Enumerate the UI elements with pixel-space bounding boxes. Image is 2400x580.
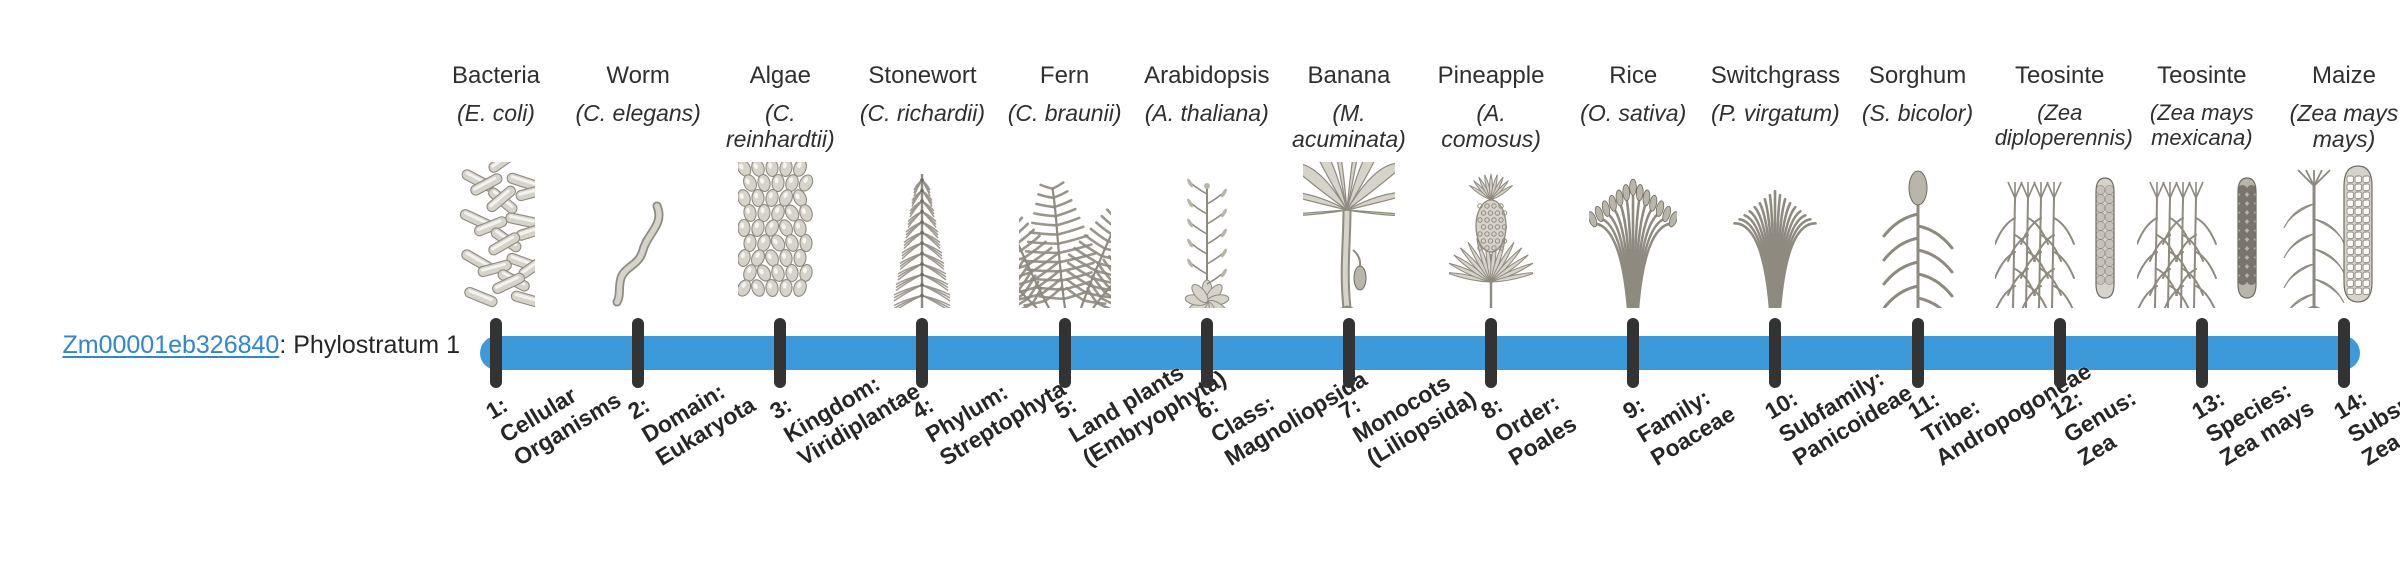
species-latin-name: (Zea mays mexicana) bbox=[2135, 100, 2269, 151]
species-latin-name: (C. reinhardtii) bbox=[713, 100, 847, 153]
phylostratum-tick-14[interactable] bbox=[2338, 318, 2350, 388]
phylostratum-tick-4[interactable] bbox=[916, 318, 928, 388]
sorghum-illustration bbox=[1851, 160, 1985, 308]
phylostratum-tick-5[interactable] bbox=[1059, 318, 1071, 388]
fern-illustration bbox=[998, 160, 1132, 308]
species-latin-name: (Zea diploperennis) bbox=[1993, 100, 2127, 151]
species-latin-name: (M. acuminata) bbox=[1282, 100, 1416, 153]
gene-label-separator: : bbox=[279, 331, 293, 359]
phylostratum-tick-13[interactable] bbox=[2196, 318, 2208, 388]
species-column-9: Rice(O. sativa)9:Family:Poaceae bbox=[1566, 0, 1700, 580]
gene-id-link[interactable]: Zm00001eb326840 bbox=[62, 331, 279, 359]
species-common-name: Pineapple bbox=[1424, 62, 1558, 90]
species-column-3: Algae(C. reinhardtii)3:Kingdom:Viridipla… bbox=[713, 0, 847, 580]
species-common-name: Fern bbox=[998, 62, 1132, 90]
species-column-11: Sorghum(S. bicolor)11:Tribe:Andropogonea… bbox=[1851, 0, 1985, 580]
species-common-name: Sorghum bbox=[1851, 62, 1985, 90]
phylostratum-tick-10[interactable] bbox=[1769, 318, 1781, 388]
species-column-8: Pineapple(A. comosus)8:Order:Poales bbox=[1424, 0, 1558, 580]
species-column-1: Bacteria(E. coli)1:CellularOrganisms bbox=[429, 0, 563, 580]
phylostratum-tick-2[interactable] bbox=[632, 318, 644, 388]
bacteria-illustration bbox=[429, 160, 563, 308]
species-common-name: Stonewort bbox=[855, 62, 989, 90]
nematode-worm-illustration bbox=[571, 160, 705, 308]
teosinte-mexicana-illustration bbox=[2135, 160, 2269, 308]
stonewort-illustration bbox=[855, 160, 989, 308]
species-common-name: Switchgrass bbox=[1708, 62, 1842, 90]
species-latin-name: (P. virgatum) bbox=[1708, 100, 1842, 126]
species-common-name: Rice bbox=[1566, 62, 1700, 90]
species-latin-name: (E. coli) bbox=[429, 100, 563, 126]
pineapple-plant-illustration bbox=[1424, 160, 1558, 308]
maize-illustration bbox=[2277, 160, 2400, 308]
phylostratum-tick-8[interactable] bbox=[1485, 318, 1497, 388]
species-column-4: Stonewort(C. richardii)4:Phylum:Streptop… bbox=[855, 0, 989, 580]
species-column-7: Banana(M. acuminata)7:Monocots(Liliopsid… bbox=[1282, 0, 1416, 580]
species-latin-name: (Zea mays mays) bbox=[2277, 100, 2400, 153]
species-column-5: Fern(C. braunii)5:Land plants(Embryophyt… bbox=[998, 0, 1132, 580]
species-column-2: Worm(C. elegans)2:Domain:Eukaryota bbox=[571, 0, 705, 580]
species-column-13: Teosinte(Zea mays mexicana)13:Species:Ze… bbox=[2135, 0, 2269, 580]
species-common-name: Worm bbox=[571, 62, 705, 90]
banana-plant-illustration bbox=[1282, 160, 1416, 308]
phylostratum-tick-9[interactable] bbox=[1627, 318, 1639, 388]
species-latin-name: (S. bicolor) bbox=[1851, 100, 1985, 126]
species-column-6: Arabidopsis(A. thaliana)6:Class:Magnolio… bbox=[1140, 0, 1274, 580]
phylostratum-tick-7[interactable] bbox=[1343, 318, 1355, 388]
species-common-name: Arabidopsis bbox=[1140, 62, 1274, 90]
species-latin-name: (C. richardii) bbox=[855, 100, 989, 126]
species-common-name: Teosinte bbox=[2135, 62, 2269, 90]
species-track: Bacteria(E. coli)1:CellularOrganismsWorm… bbox=[480, 0, 2360, 580]
species-common-name: Algae bbox=[713, 62, 847, 90]
phylostratum-tick-1[interactable] bbox=[490, 318, 502, 388]
species-common-name: Maize bbox=[2277, 62, 2400, 90]
species-common-name: Banana bbox=[1282, 62, 1416, 90]
switchgrass-illustration bbox=[1708, 160, 1842, 308]
green-algae-illustration bbox=[713, 160, 847, 308]
species-column-14: Maize(Zea mays mays)14:Subspecies:Zea ma… bbox=[2277, 0, 2400, 580]
teosinte-diploperennis-illustration bbox=[1993, 160, 2127, 308]
species-latin-name: (A. comosus) bbox=[1424, 100, 1558, 153]
phylostratigraphy-figure: Zm00001eb326840: Phylostratum 1 Bacteria… bbox=[0, 0, 2400, 580]
species-column-12: Teosinte(Zea diploperennis)12:Genus:Zea bbox=[1993, 0, 2127, 580]
gene-phylostratum-label: Zm00001eb326840: Phylostratum 1 bbox=[40, 332, 460, 360]
phylostratum-tick-11[interactable] bbox=[1912, 318, 1924, 388]
species-common-name: Bacteria bbox=[429, 62, 563, 90]
species-latin-name: (O. sativa) bbox=[1566, 100, 1700, 126]
species-latin-name: (C. elegans) bbox=[571, 100, 705, 126]
species-latin-name: (A. thaliana) bbox=[1140, 100, 1274, 126]
phylostratum-tick-12[interactable] bbox=[2054, 318, 2066, 388]
species-column-10: Switchgrass(P. virgatum)10:Subfamily:Pan… bbox=[1708, 0, 1842, 580]
phylostratum-tick-3[interactable] bbox=[774, 318, 786, 388]
species-common-name: Teosinte bbox=[1993, 62, 2127, 90]
arabidopsis-illustration bbox=[1140, 160, 1274, 308]
phylostratum-tick-6[interactable] bbox=[1201, 318, 1213, 388]
rice-plant-illustration bbox=[1566, 160, 1700, 308]
species-latin-name: (C. braunii) bbox=[998, 100, 1132, 126]
